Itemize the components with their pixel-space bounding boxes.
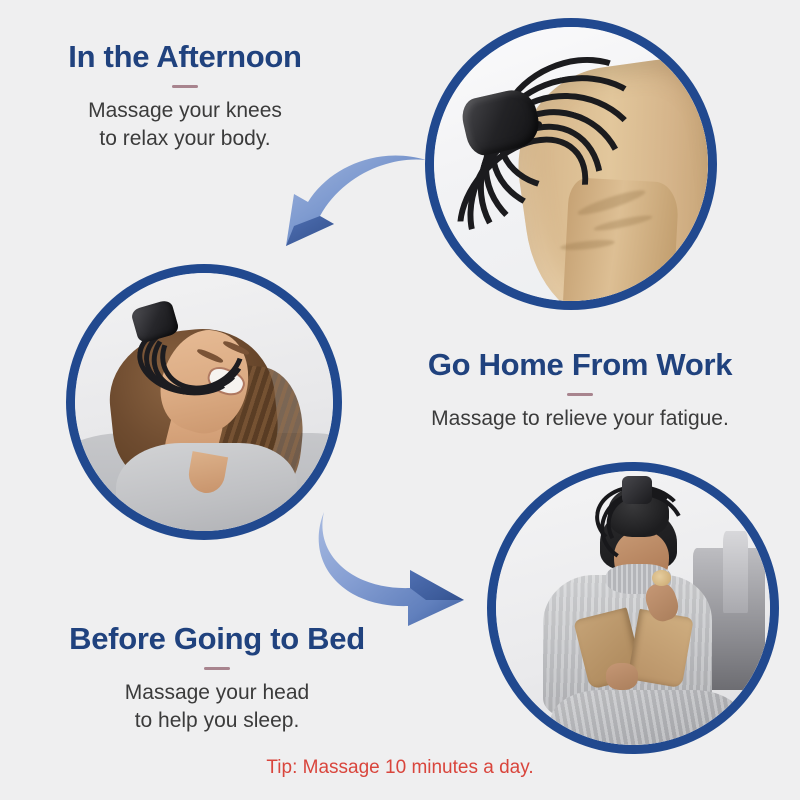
section-work-heading: Go Home From Work	[400, 348, 760, 382]
section-work: Go Home From Work Massage to relieve you…	[400, 348, 760, 433]
section-afternoon: In the Afternoon Massage your knees to r…	[40, 40, 330, 154]
crossed-legs	[551, 690, 743, 745]
head-massager-device	[127, 299, 251, 382]
knee-photo-inner	[434, 27, 708, 301]
section-afternoon-divider	[172, 85, 198, 88]
reading-photo-inner	[496, 471, 770, 745]
curved-arrow-down-right-icon	[298, 508, 488, 628]
section-afternoon-heading: In the Afternoon	[40, 40, 330, 74]
section-work-line1: Massage to relieve your fatigue.	[400, 405, 760, 433]
section-work-divider	[567, 393, 593, 396]
arrow-body	[319, 512, 464, 626]
curved-arrow-down-left-icon	[268, 138, 448, 273]
hand-holding-book	[606, 663, 639, 690]
background-lamp	[723, 531, 748, 613]
infographic-canvas: In the Afternoon Massage your knees to r…	[0, 0, 800, 800]
section-bed-line2: to help you sleep.	[42, 707, 392, 735]
massager-on-knee-photo	[425, 18, 717, 310]
woman-reading-with-massager-photo	[487, 462, 779, 754]
section-bed: Before Going to Bed Massage your head to…	[42, 622, 392, 736]
section-afternoon-line1: Massage your knees	[40, 97, 330, 125]
section-bed-line1: Massage your head	[42, 679, 392, 707]
section-bed-divider	[204, 667, 230, 670]
head-photo-inner	[75, 273, 333, 531]
tip-text: Tip: Massage 10 minutes a day.	[0, 757, 800, 779]
woman-wearing-head-massager-photo	[66, 264, 342, 540]
head-massager-hub	[622, 476, 652, 503]
